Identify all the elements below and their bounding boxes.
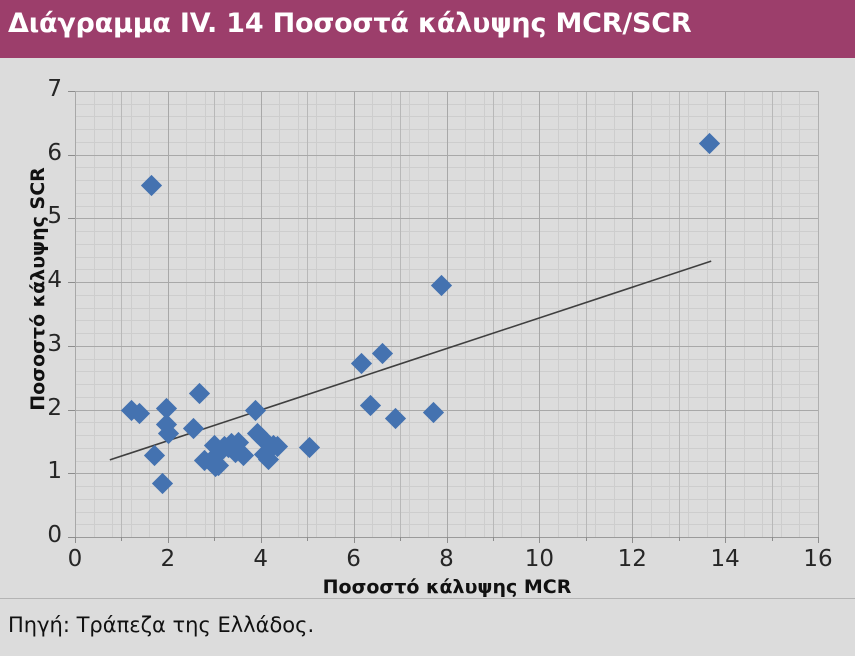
x-tick-mark-minor — [772, 537, 773, 541]
x-tick-label: 6 — [324, 546, 384, 572]
y-tick-mark — [68, 537, 75, 538]
y-tick-label: 0 — [22, 522, 62, 548]
x-tick-mark — [75, 537, 76, 543]
gridline-vertical-minor — [298, 91, 299, 537]
x-tick-mark — [261, 537, 262, 543]
x-tick-mark-minor — [586, 537, 587, 541]
gridline-vertical-minor — [484, 91, 485, 537]
gridline-vertical-minor — [465, 91, 466, 537]
gridline-vertical-minor — [614, 91, 615, 537]
x-tick-mark-minor — [307, 537, 308, 541]
gridline-vertical-minor — [372, 91, 373, 537]
x-tick-label: 14 — [695, 546, 755, 572]
x-tick-label: 8 — [417, 546, 477, 572]
x-tick-mark — [168, 537, 169, 543]
y-tick-label: 1 — [22, 458, 62, 484]
x-tick-mark — [632, 537, 633, 543]
gridline-vertical-minor — [799, 91, 800, 537]
gridline-vertical-major — [307, 91, 308, 537]
x-tick-mark-minor — [400, 537, 401, 541]
y-tick-mark — [68, 346, 75, 347]
gridline-vertical-major — [632, 91, 633, 537]
gridline-vertical-major — [354, 91, 355, 537]
x-tick-mark-minor — [121, 537, 122, 541]
gridline-vertical-minor — [316, 91, 317, 537]
x-tick-mark-minor — [679, 537, 680, 541]
source-note: Πηγή: Τράπεζα της Ελλάδος. — [8, 613, 314, 637]
gridline-vertical-major — [493, 91, 494, 537]
gridline-vertical-minor — [744, 91, 745, 537]
y-axis-title: Ποσοστό κάλυψης SCR — [27, 129, 49, 449]
gridline-vertical-major — [400, 91, 401, 537]
gridline-horizontal-major — [75, 346, 818, 347]
gridline-vertical-major — [75, 91, 76, 537]
x-tick-label: 4 — [231, 546, 291, 572]
scatter-point — [152, 473, 173, 494]
x-tick-label: 2 — [138, 546, 198, 572]
x-tick-mark — [447, 537, 448, 543]
gridline-vertical-major — [586, 91, 587, 537]
gridline-vertical-major — [679, 91, 680, 537]
gridline-vertical-major — [772, 91, 773, 537]
gridline-horizontal-major — [75, 473, 818, 474]
gridline-horizontal-major — [75, 410, 818, 411]
gridline-horizontal-major — [75, 218, 818, 219]
gridline-vertical-minor — [335, 91, 336, 537]
gridline-vertical-minor — [502, 91, 503, 537]
y-tick-mark — [68, 282, 75, 283]
x-tick-mark-minor — [214, 537, 215, 541]
y-tick-mark — [68, 91, 75, 92]
x-axis-title: Ποσοστό κάλυψης MCR — [75, 576, 819, 598]
gridline-vertical-major — [261, 91, 262, 537]
gridline-vertical-major — [168, 91, 169, 537]
scatter-point — [699, 133, 720, 154]
title-bar: Διάγραμμα IV. 14 Ποσοστά κάλυψης MCR/SCR — [0, 0, 855, 58]
x-tick-mark — [725, 537, 726, 543]
y-tick-mark — [68, 410, 75, 411]
scatter-point — [360, 395, 381, 416]
gridline-vertical-major — [121, 91, 122, 537]
gridline-vertical-minor — [391, 91, 392, 537]
gridline-vertical-minor — [707, 91, 708, 537]
gridline-vertical-minor — [186, 91, 187, 537]
gridline-vertical-major — [725, 91, 726, 537]
gridline-vertical-minor — [94, 91, 95, 537]
x-tick-mark-minor — [493, 537, 494, 541]
y-tick-mark — [68, 218, 75, 219]
gridline-vertical-minor — [131, 91, 132, 537]
x-tick-mark — [354, 537, 355, 543]
gridline-vertical-minor — [595, 91, 596, 537]
x-tick-mark — [539, 537, 540, 543]
gridline-vertical-minor — [242, 91, 243, 537]
gridline-vertical-minor — [781, 91, 782, 537]
gridline-vertical-minor — [577, 91, 578, 537]
gridline-horizontal-major — [75, 91, 818, 92]
scatter-point — [245, 400, 266, 421]
scatter-point — [423, 402, 444, 423]
x-tick-label: 12 — [602, 546, 662, 572]
gridline-vertical-minor — [521, 91, 522, 537]
plot-area — [75, 91, 818, 537]
gridline-vertical-minor — [762, 91, 763, 537]
gridline-horizontal-major — [75, 155, 818, 156]
page-title: Διάγραμμα IV. 14 Ποσοστά κάλυψης MCR/SCR — [8, 8, 848, 39]
scatter-point — [189, 382, 210, 403]
chart-page: Διάγραμμα IV. 14 Ποσοστά κάλυψης MCR/SCR… — [0, 0, 855, 655]
gridline-vertical-minor — [279, 91, 280, 537]
x-tick-label: 10 — [509, 546, 569, 572]
chart-canvas: 01234567 0246810121416 Ποσοστό κάλυψης S… — [0, 58, 855, 598]
y-tick-mark — [68, 155, 75, 156]
gridline-vertical-minor — [149, 91, 150, 537]
x-tick-label: 16 — [788, 546, 848, 572]
source-bar: Πηγή: Τράπεζα της Ελλάδος. — [0, 598, 855, 656]
x-tick-label: 0 — [45, 546, 105, 572]
gridline-vertical-minor — [112, 91, 113, 537]
gridline-vertical-minor — [558, 91, 559, 537]
gridline-vertical-major — [539, 91, 540, 537]
gridline-vertical-minor — [688, 91, 689, 537]
x-tick-mark — [818, 537, 819, 543]
scatter-point — [431, 275, 452, 296]
gridline-vertical-minor — [651, 91, 652, 537]
plot-border-right — [818, 91, 819, 538]
gridline-vertical-minor — [409, 91, 410, 537]
y-tick-mark — [68, 473, 75, 474]
scatter-point — [385, 408, 406, 429]
y-tick-label: 7 — [22, 76, 62, 102]
gridline-vertical-minor — [428, 91, 429, 537]
gridline-vertical-major — [447, 91, 448, 537]
gridline-vertical-minor — [669, 91, 670, 537]
